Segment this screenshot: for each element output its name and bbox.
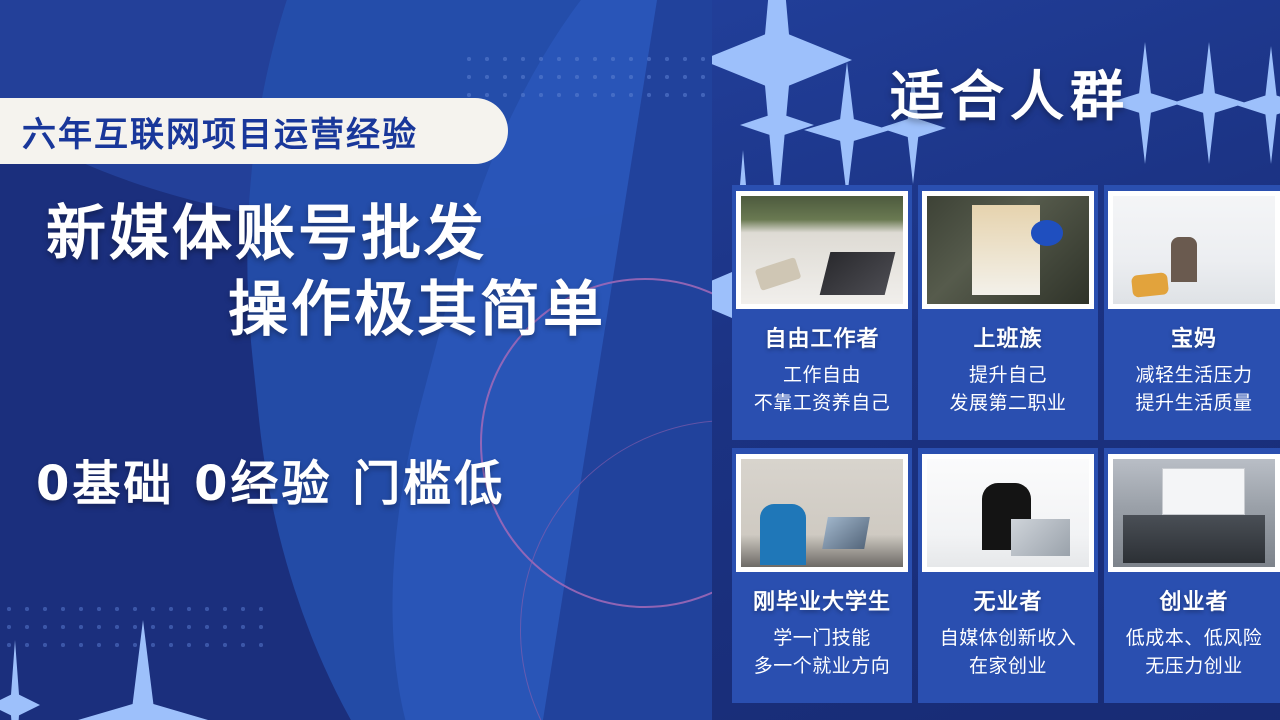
card-photo-frame	[736, 454, 908, 572]
card-photo-frame	[736, 191, 908, 309]
card-title: 无业者	[973, 584, 1042, 616]
mother-laptop-bedroom-photo	[1113, 196, 1275, 304]
card-description: 减轻生活压力 提升生活质量	[1135, 361, 1252, 417]
subheadline: 0基础 0经验 门槛低	[36, 444, 676, 514]
card-line: 低成本、低风险	[1126, 624, 1263, 652]
card-line: 发展第二职业	[949, 389, 1066, 417]
headline-block: 新媒体账号批发 操作极其简单	[0, 196, 700, 348]
card-title: 宝妈	[1171, 321, 1217, 353]
section-title: 适合人群	[890, 52, 1130, 131]
audience-card: 刚毕业大学生 学一门技能 多一个就业方向	[732, 448, 912, 703]
bed-laptop-photo	[741, 196, 903, 304]
card-photo-frame	[922, 191, 1094, 309]
card-description: 自媒体创新收入 在家创业	[940, 624, 1077, 680]
card-line: 在家创业	[940, 652, 1077, 680]
right-panel: 适合人群 自由工作者 工作自由 不靠工资养自己 上班族 提升自己	[712, 0, 1280, 720]
audience-card-grid: 自由工作者 工作自由 不靠工资养自己 上班族 提升自己 发展第二职业	[732, 185, 1280, 715]
card-line: 工作自由	[754, 361, 891, 389]
audience-card: 宝妈 减轻生活压力 提升生活质量	[1104, 185, 1280, 440]
audience-card: 创业者 低成本、低风险 无压力创业	[1104, 448, 1280, 703]
card-photo-frame	[1108, 454, 1280, 572]
card-description: 低成本、低风险 无压力创业	[1126, 624, 1263, 680]
left-panel: 六年互联网项目运营经验 新媒体账号批发 操作极其简单 0基础 0经验 门槛低	[0, 0, 712, 720]
card-line: 多一个就业方向	[754, 652, 891, 680]
card-description: 提升自己 发展第二职业	[949, 361, 1066, 417]
dot-grid-bottom	[0, 600, 270, 654]
headline-line-2: 操作极其简单	[0, 272, 700, 348]
audience-card: 无业者 自媒体创新收入 在家创业	[918, 448, 1098, 703]
sparkle-icon	[1236, 46, 1280, 164]
card-line: 自媒体创新收入	[940, 624, 1077, 652]
card-title: 刚毕业大学生	[753, 584, 891, 616]
audience-card: 上班族 提升自己 发展第二职业	[918, 185, 1098, 440]
card-description: 学一门技能 多一个就业方向	[754, 624, 891, 680]
dot-grid-top	[460, 50, 712, 104]
card-line: 提升自己	[949, 361, 1066, 389]
experience-badge: 六年互联网项目运营经验	[22, 108, 492, 154]
card-title: 创业者	[1159, 584, 1228, 616]
card-photo-frame	[922, 454, 1094, 572]
card-title: 自由工作者	[764, 321, 879, 353]
sparkle-icon	[740, 60, 814, 190]
card-line: 不靠工资养自己	[754, 389, 891, 417]
card-line: 无压力创业	[1126, 652, 1263, 680]
sparkle-icon	[1172, 42, 1246, 164]
card-line: 学一门技能	[754, 624, 891, 652]
tired-woman-laptop-photo	[927, 459, 1089, 567]
card-photo-frame	[1108, 191, 1280, 309]
student-laptop-photo	[741, 459, 903, 567]
card-title: 上班族	[973, 321, 1042, 353]
card-line: 提升生活质量	[1135, 389, 1252, 417]
conference-room-photo	[1113, 459, 1275, 567]
card-line: 减轻生活压力	[1135, 361, 1252, 389]
sparkle-icon	[804, 62, 890, 198]
card-description: 工作自由 不靠工资养自己	[754, 361, 891, 417]
promo-poster: 六年互联网项目运营经验 新媒体账号批发 操作极其简单 0基础 0经验 门槛低 适…	[0, 0, 1280, 720]
office-meeting-photo	[927, 196, 1089, 304]
audience-card: 自由工作者 工作自由 不靠工资养自己	[732, 185, 912, 440]
headline-line-1: 新媒体账号批发	[0, 196, 700, 272]
